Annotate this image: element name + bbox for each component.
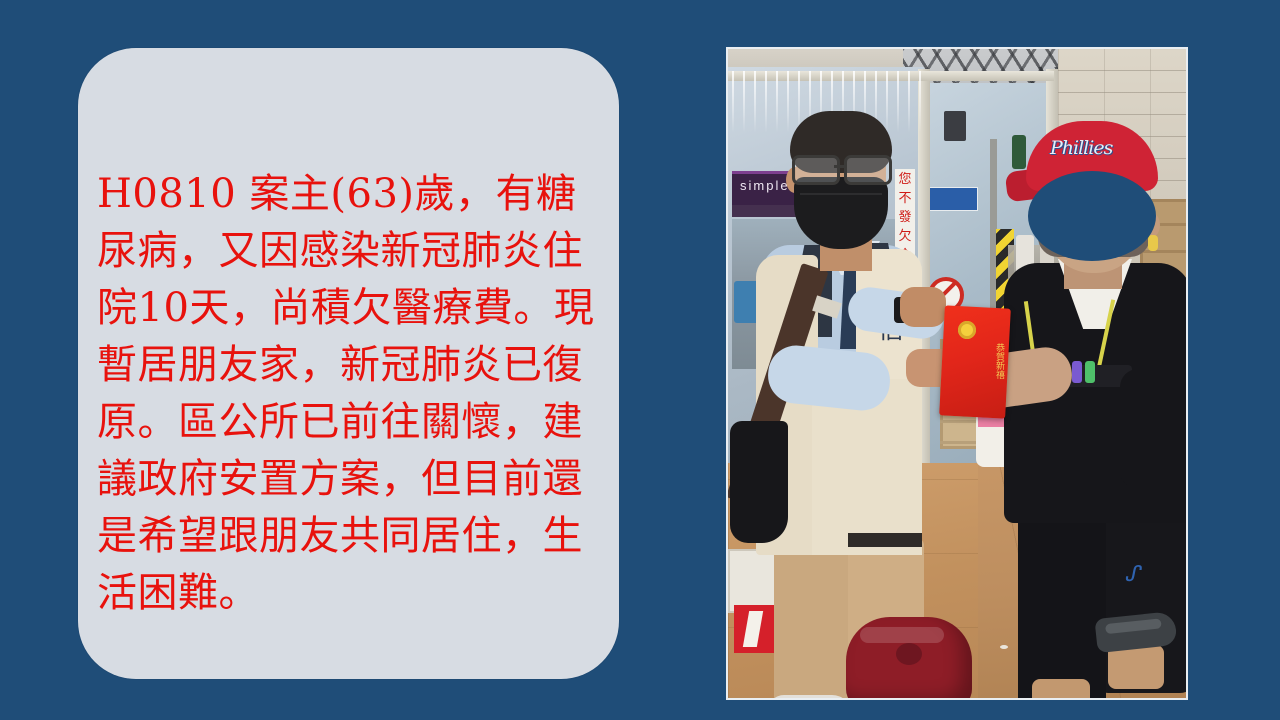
ceiling-lamp-icon bbox=[944, 111, 966, 141]
slide-root: H0810 案主(63)歲，有糖尿病，又因感染新冠肺炎住院10天，尚積欠醫療費。… bbox=[0, 0, 1280, 720]
sneaker-left bbox=[768, 695, 852, 700]
worker-trouser-left bbox=[774, 547, 848, 700]
shoulder-bag bbox=[730, 421, 788, 543]
worker-belt bbox=[848, 533, 922, 547]
case-subject-leg-right bbox=[1108, 645, 1164, 689]
red-display-box bbox=[734, 605, 776, 653]
envelope-gold-seal bbox=[958, 321, 976, 339]
privacy-mask-ellipse bbox=[1028, 171, 1156, 261]
case-photo: simple u 您不發欠金交 bbox=[726, 47, 1188, 700]
traffic-light-icon bbox=[1012, 135, 1026, 169]
blue-road-sign bbox=[924, 187, 978, 211]
stool-highlight bbox=[860, 627, 944, 643]
case-subject-leg-left bbox=[1032, 679, 1090, 700]
case-subject-arm-right bbox=[1120, 369, 1188, 489]
worker-hand-upper bbox=[900, 287, 946, 327]
cap-script-logo: Phillies bbox=[1050, 137, 1142, 163]
eyeglasses-icon bbox=[792, 155, 892, 181]
case-description-text: H0810 案主(63)歲，有糖尿病，又因感染新冠肺炎住院10天，尚積欠醫療費。… bbox=[97, 166, 602, 622]
case-text-card: H0810 案主(63)歲，有糖尿病，又因感染新冠肺炎住院10天，尚積欠醫療費。… bbox=[78, 48, 619, 679]
envelope-gold-text: 恭賀新禧 bbox=[964, 343, 1004, 409]
stool-hole bbox=[896, 643, 922, 665]
case-subject-trouser-left bbox=[1018, 501, 1106, 700]
floor-speck bbox=[1000, 645, 1008, 649]
trouser-logo: ᔑ bbox=[1126, 561, 1172, 601]
paper-display-box bbox=[728, 549, 776, 613]
earring-icon bbox=[1148, 235, 1158, 251]
